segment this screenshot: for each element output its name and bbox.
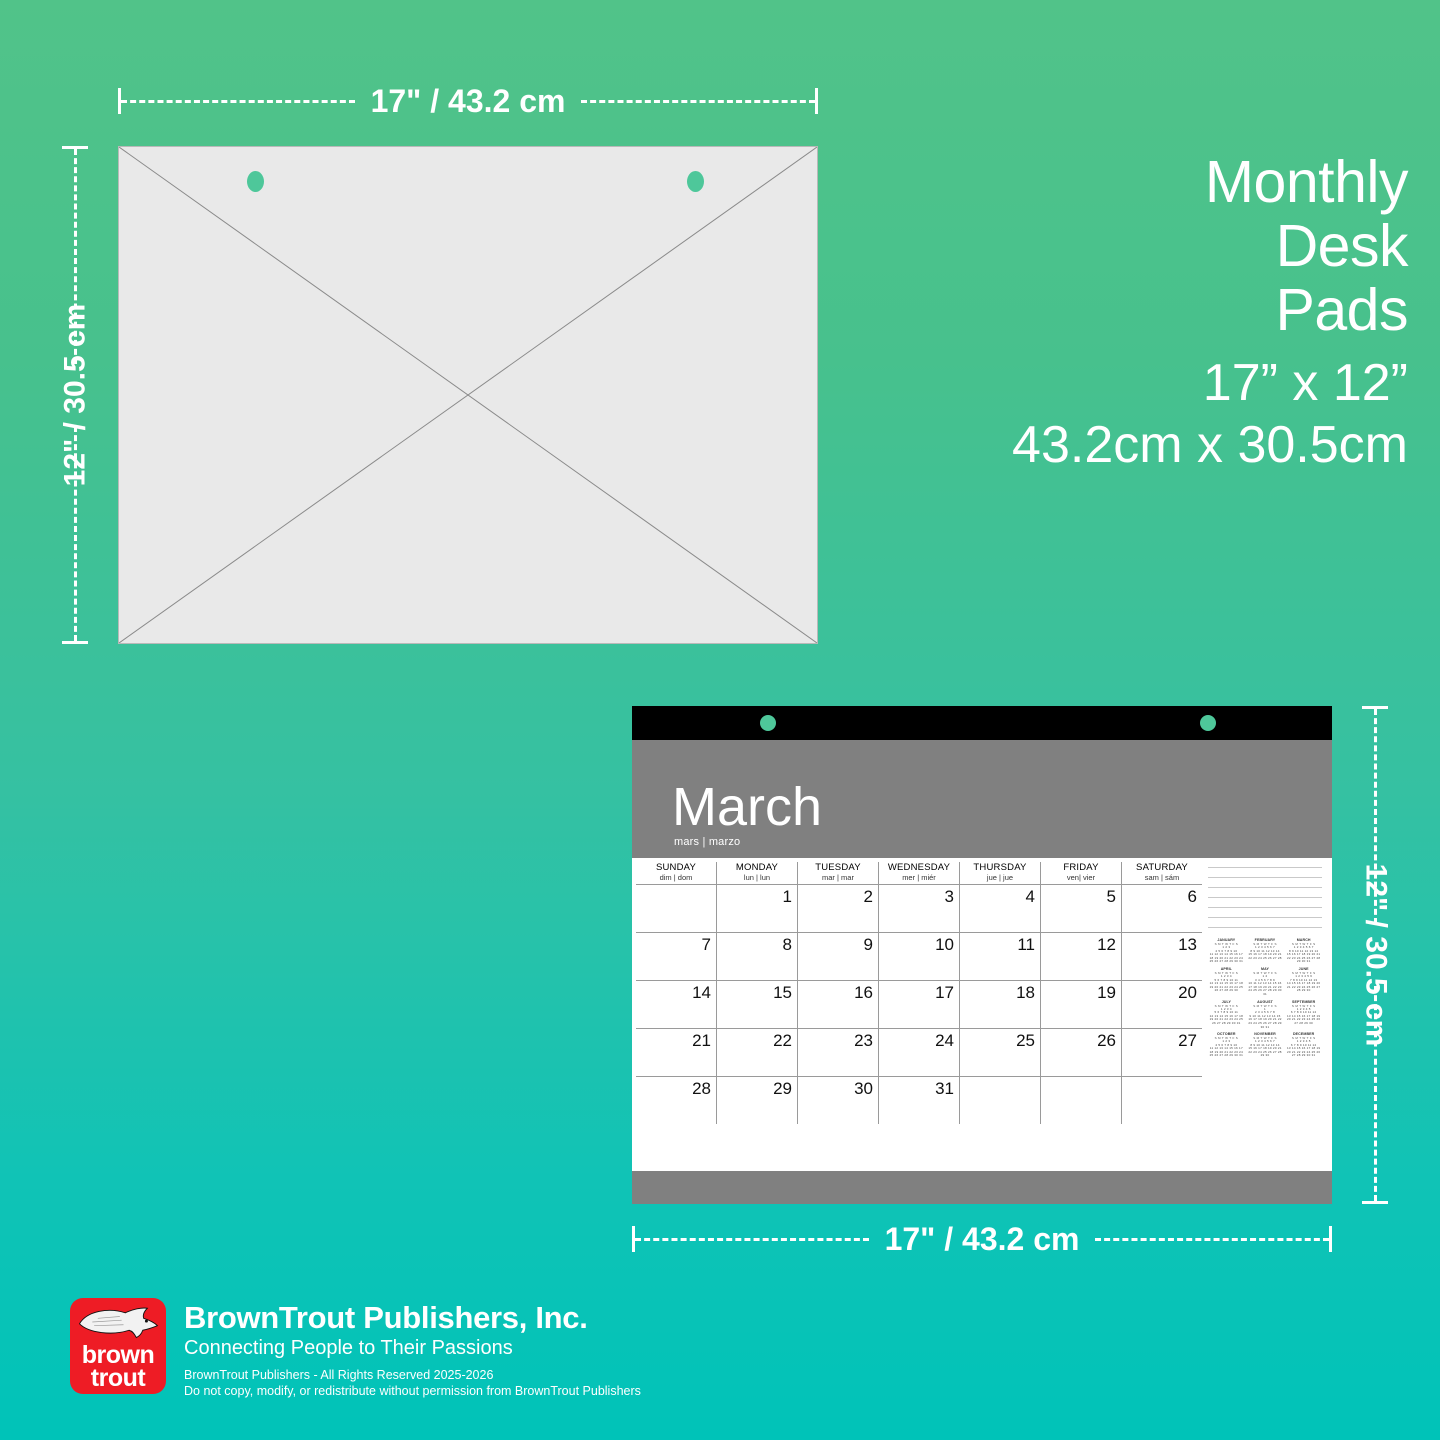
note-line [1208,926,1322,928]
calendar-day-number: 13 [1178,935,1197,955]
company-tagline: Connecting People to Their Passions [184,1335,641,1361]
calendar-day-cell[interactable]: 8 [717,933,798,980]
mini-month-days: 1 2 3 45 6 7 8 9 10 1112 13 14 15 16 17 … [1208,1008,1245,1026]
calendar-weekday-header-row: SUNDAYdim | domMONDAYlun | lunTUESDAYmar… [636,862,1202,884]
mini-month: SEPTEMBERS M T W T F S1 2 3 4 56 7 8 9 1… [1285,1000,1322,1030]
calendar-day-cell[interactable]: 22 [717,1029,798,1076]
mini-month-days: 1 2 34 5 6 7 8 9 1011 12 13 14 15 16 171… [1208,1040,1245,1058]
mini-month-days: 1 2 3 4 5 6 78 9 10 11 12 13 1415 16 17 … [1247,946,1284,960]
calendar-day-number: 18 [1016,983,1035,1003]
mini-month-week: 25 26 27 28 29 30 31 [1208,1054,1245,1058]
year-overview-mini-calendars: JANUARYS M T W T F S1 2 34 5 6 7 8 9 101… [1208,938,1322,1058]
calendar-weekday-header: MONDAYlun | lun [717,862,798,884]
mini-month-days: 1 2 34 5 6 7 8 9 1011 12 13 14 15 16 171… [1208,946,1245,964]
title-line-2: Desk Pads [1148,214,1408,342]
weekday-translation: dim | dom [636,873,716,882]
usage-notice-line: Do not copy, modify, or redistribute wit… [184,1383,641,1399]
calendar-day-cell[interactable]: 3 [879,885,960,932]
calendar-weekday-header: WEDNESDAYmer | miér [879,862,960,884]
calendar-day-number: 7 [702,935,711,955]
browntrout-logo: brown trout [70,1298,166,1394]
calendar-weekday-header: THURSDAYjue | jue [960,862,1041,884]
calendar-day-number: 27 [1178,1031,1197,1051]
calendar-day-cell[interactable] [960,1077,1041,1124]
weekday-name: SUNDAY [636,862,716,873]
size-centimeters: 43.2cm x 30.5cm [880,414,1408,476]
calendar-day-number: 26 [1097,1031,1116,1051]
calendar-day-number: 3 [945,887,954,907]
dimension-end-cap-right [815,88,818,114]
calendar-day-number: 29 [773,1079,792,1099]
weekday-name: FRIDAY [1041,862,1121,873]
right-height-label: 12" / 30.5 cm [1344,864,1406,1047]
mini-month: AUGUSTS M T W T F S12 3 4 5 6 7 89 10 11… [1247,1000,1284,1030]
calendar-day-cell[interactable]: 2 [798,885,879,932]
mini-month-days: 1 2 3 4 5 67 8 9 10 11 12 1314 15 16 17 … [1285,975,1322,993]
calendar-day-number: 19 [1097,983,1116,1003]
dimension-dash-left [635,1238,869,1241]
calendar-day-number: 23 [854,1031,873,1051]
product-image-placeholder [118,146,818,644]
weekday-translation: sam | sám [1122,873,1202,882]
mini-month: JUNES M T W T F S1 2 3 4 5 67 8 9 10 11 … [1285,967,1322,997]
mini-month: OCTOBERS M T W T F S1 2 34 5 6 7 8 9 101… [1208,1032,1245,1058]
calendar-month-name: March [672,780,822,834]
binding-hole-left [247,171,264,192]
mini-month-week: 22 23 24 25 26 27 28 [1247,957,1284,961]
calendar-day-cell[interactable]: 13 [1122,933,1202,980]
calendar-week-row: 28293031 [636,1076,1202,1124]
calendar-day-number: 15 [773,983,792,1003]
calendar-day-cell[interactable]: 7 [636,933,717,980]
calendar-day-cell[interactable]: 10 [879,933,960,980]
footer-text-block: BrownTrout Publishers, Inc. Connecting P… [184,1298,641,1399]
calendar-day-number: 9 [864,935,873,955]
calendar-day-number: 12 [1097,935,1116,955]
dimension-end-cap-bottom [1362,1201,1388,1204]
calendar-day-cell[interactable] [1041,1077,1122,1124]
logo-text-line-2: trout [70,1367,166,1390]
calendar-weekday-header: SUNDAYdim | dom [636,862,717,884]
calendar-day-cell[interactable]: 27 [1122,1029,1202,1076]
mini-month-days: 1 23 4 5 6 7 8 910 11 12 13 14 15 1617 1… [1247,975,1284,997]
notes-lines-area [1208,866,1322,928]
calendar-day-cell[interactable]: 25 [960,1029,1041,1076]
mini-month-week: 31 [1247,993,1284,997]
dimension-dash-left [121,100,355,103]
logo-text: brown trout [70,1344,166,1390]
calendar-week-row: 123456 [636,884,1202,932]
mini-month-days: 1 2 3 4 5 6 78 9 10 11 12 13 1415 16 17 … [1285,946,1322,964]
note-line [1208,916,1322,918]
mini-month: MAYS M T W T F S1 23 4 5 6 7 8 910 11 12… [1247,967,1284,997]
calendar-day-cell[interactable]: 11 [960,933,1041,980]
calendar-day-number: 16 [854,983,873,1003]
trout-fish-icon [74,1302,162,1342]
mini-month-week: 29 30 [1247,1054,1284,1058]
calendar-day-number: 8 [783,935,792,955]
weekday-translation: mer | miér [879,873,959,882]
calendar-binding-hole-left [760,715,776,731]
binding-hole-right [687,171,704,192]
mini-month: DECEMBERS M T W T F S1 2 3 4 56 7 8 9 10… [1285,1032,1322,1058]
dimension-dash-right [1095,1238,1329,1241]
calendar-binding-strip [632,706,1332,740]
calendar-week-row: 14151617181920 [636,980,1202,1028]
calendar-day-number: 28 [692,1079,711,1099]
note-line [1208,886,1322,888]
calendar-body: SUNDAYdim | domMONDAYlun | lunTUESDAYmar… [632,858,1332,1171]
calendar-day-cell[interactable]: 19 [1041,981,1122,1028]
mini-month: MARCHS M T W T F S1 2 3 4 5 6 78 9 10 11… [1285,938,1322,964]
calendar-preview: March mars | marzo SUNDAYdim | domMONDAY… [632,706,1332,1204]
mini-month-week: 26 27 28 29 30 [1208,989,1245,993]
weekday-name: TUESDAY [798,862,878,873]
top-width-label: 17" / 43.2 cm [355,83,582,120]
calendar-grid: SUNDAYdim | domMONDAYlun | lunTUESDAYmar… [632,858,1202,1171]
calendar-side-panel: JANUARYS M T W T F S1 2 34 5 6 7 8 9 101… [1202,858,1328,1171]
calendar-day-number: 5 [1107,887,1116,907]
calendar-day-number: 6 [1188,887,1197,907]
calendar-weekday-header: FRIDAYven| vier [1041,862,1122,884]
mini-month-days: 1 2 3 45 6 7 8 9 10 1112 13 14 15 16 17 … [1208,975,1245,993]
calendar-day-cell[interactable]: 30 [798,1077,879,1124]
dimension-end-cap-bottom [62,641,88,644]
calendar-day-cell[interactable]: 31 [879,1077,960,1124]
calendar-day-cell[interactable]: 16 [798,981,879,1028]
weekday-name: MONDAY [717,862,797,873]
mini-month-week: 27 28 29 30 31 [1285,1054,1322,1058]
calendar-day-cell[interactable]: 26 [1041,1029,1122,1076]
mini-month-week: 26 27 28 29 30 31 [1208,1022,1245,1026]
calendar-weekday-header: TUESDAYmar | mar [798,862,879,884]
weekday-translation: jue | jue [960,873,1040,882]
calendar-day-number: 25 [1016,1031,1035,1051]
calendar-day-cell[interactable] [1122,1077,1202,1124]
mini-month-days: 1 2 3 4 5 6 78 9 10 11 12 13 1415 16 17 … [1247,1040,1284,1058]
calendar-month-subtitle: mars | marzo [674,836,740,848]
calendar-day-cell[interactable]: 28 [636,1077,717,1124]
mini-month: NOVEMBERS M T W T F S1 2 3 4 5 6 78 9 10… [1247,1032,1284,1058]
weekday-name: THURSDAY [960,862,1040,873]
mini-month-week: 27 28 29 30 [1285,1022,1322,1026]
calendar-day-number: 20 [1178,983,1197,1003]
calendar-day-number: 22 [773,1031,792,1051]
note-line [1208,876,1322,878]
copyright-line: BrownTrout Publishers - All Rights Reser… [184,1367,641,1383]
mini-month-days: 12 3 4 5 6 7 89 10 11 12 13 14 1516 17 1… [1247,1008,1284,1030]
mini-month-week: 28 29 30 [1285,989,1322,993]
dimension-dash-right [581,100,815,103]
calendar-day-cell[interactable]: 1 [717,885,798,932]
calendar-binding-hole-right [1200,715,1216,731]
bottom-width-label: 17" / 43.2 cm [869,1221,1096,1258]
weekday-translation: lun | lun [717,873,797,882]
bottom-width-dimension: 17" / 43.2 cm [632,1238,1332,1240]
weekday-name: SATURDAY [1122,862,1202,873]
mini-month-days: 1 2 3 4 56 7 8 9 10 11 1213 14 15 16 17 … [1285,1040,1322,1058]
calendar-week-row: 78910111213 [636,932,1202,980]
calendar-day-number: 24 [935,1031,954,1051]
note-line [1208,866,1322,868]
calendar-day-cell[interactable]: 17 [879,981,960,1028]
calendar-day-number: 11 [1017,935,1035,955]
mini-month-week: 30 31 [1247,1026,1284,1030]
calendar-footer-band [632,1171,1332,1204]
mini-month: APRILS M T W T F S1 2 3 45 6 7 8 9 10 11… [1208,967,1245,997]
calendar-week-row: 21222324252627 [636,1028,1202,1076]
calendar-day-cell[interactable]: 20 [1122,981,1202,1028]
calendar-day-cell[interactable]: 14 [636,981,717,1028]
calendar-day-cell[interactable]: 9 [798,933,879,980]
calendar-day-cell[interactable]: 18 [960,981,1041,1028]
mini-month: FEBRUARYS M T W T F S1 2 3 4 5 6 78 9 10… [1247,938,1284,964]
mini-month-week: 25 26 27 28 29 30 31 [1208,960,1245,964]
calendar-month-header: March mars | marzo [632,740,1332,858]
calendar-weekday-header: SATURDAYsam | sám [1122,862,1202,884]
left-height-dimension: 12" / 30.5 cm [62,146,88,644]
dimension-end-cap-right [1329,1226,1332,1252]
placeholder-cross-icon [119,147,817,643]
footer: brown trout BrownTrout Publishers, Inc. … [70,1298,1270,1399]
product-title: Monthly Desk Pads [1148,150,1408,342]
calendar-day-cell[interactable]: 24 [879,1029,960,1076]
calendar-day-number: 21 [692,1031,711,1051]
calendar-day-cell[interactable]: 23 [798,1029,879,1076]
left-height-label: 12" / 30.5 cm [44,304,106,487]
calendar-day-cell[interactable]: 5 [1041,885,1122,932]
weekday-name: WEDNESDAY [879,862,959,873]
calendar-day-number: 14 [692,983,711,1003]
calendar-day-cell[interactable] [636,885,717,932]
top-width-dimension: 17" / 43.2 cm [118,100,818,102]
note-line [1208,906,1322,908]
calendar-day-cell[interactable]: 4 [960,885,1041,932]
calendar-day-number: 10 [935,935,954,955]
weekday-translation: ven| vier [1041,873,1121,882]
note-line [1208,896,1322,898]
calendar-day-number: 17 [935,983,954,1003]
mini-month-week: 29 30 31 [1285,960,1322,964]
calendar-day-cell[interactable]: 21 [636,1029,717,1076]
calendar-day-number: 31 [935,1079,954,1099]
calendar-day-cell[interactable]: 29 [717,1077,798,1124]
mini-month: JULYS M T W T F S1 2 3 45 6 7 8 9 10 111… [1208,1000,1245,1030]
size-inches: 17” x 12” [880,352,1408,414]
calendar-day-cell[interactable]: 6 [1122,885,1202,932]
calendar-day-number: 1 [783,887,792,907]
title-line-1: Monthly [1148,150,1408,214]
right-height-dimension: 12" / 30.5 cm [1362,706,1388,1204]
weekday-translation: mar | mar [798,873,878,882]
calendar-day-number: 2 [864,887,873,907]
calendar-day-number: 4 [1026,887,1035,907]
mini-month: JANUARYS M T W T F S1 2 34 5 6 7 8 9 101… [1208,938,1245,964]
calendar-day-cell[interactable]: 12 [1041,933,1122,980]
mini-month-days: 1 2 3 4 56 7 8 9 10 11 1213 14 15 16 17 … [1285,1008,1322,1026]
calendar-week-rows: 1234567891011121314151617181920212223242… [636,884,1202,1124]
company-name: BrownTrout Publishers, Inc. [184,1300,641,1335]
calendar-day-cell[interactable]: 15 [717,981,798,1028]
product-size: 17” x 12” 43.2cm x 30.5cm [880,352,1408,476]
calendar-day-number: 30 [854,1079,873,1099]
